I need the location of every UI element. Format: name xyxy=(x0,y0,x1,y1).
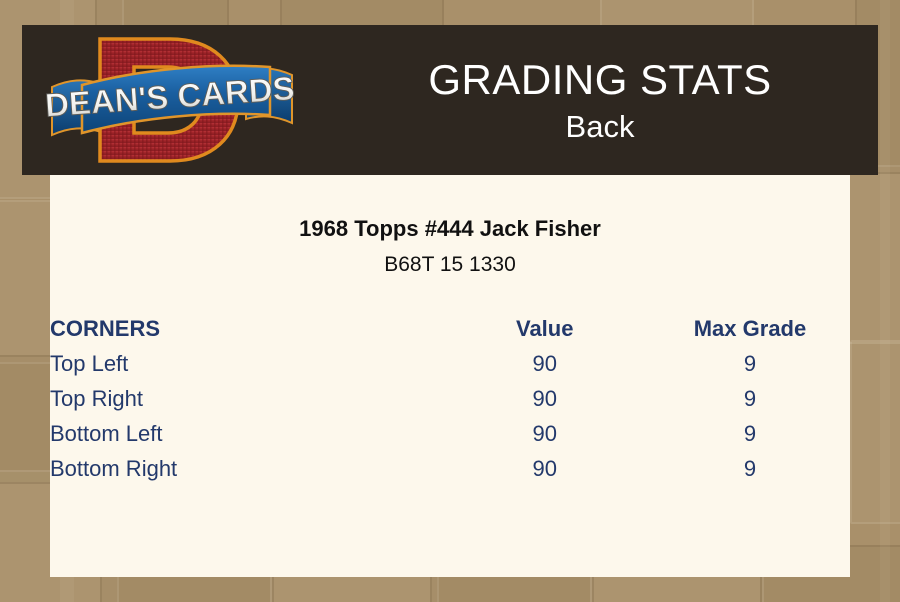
row-max-grade: 9 xyxy=(650,381,850,416)
column-header-value: Value xyxy=(439,311,650,346)
column-header-max-grade: Max Grade xyxy=(650,311,850,346)
deans-cards-logo-icon: DEAN'S CARDS xyxy=(42,27,302,173)
card-subtitle: B68T 15 1330 xyxy=(50,252,850,278)
row-max-grade: 9 xyxy=(650,346,850,381)
deans-cards-logo[interactable]: DEAN'S CARDS xyxy=(42,27,302,173)
column-header-corners: CORNERS xyxy=(50,311,439,346)
row-label: Top Left xyxy=(50,346,439,381)
card-title: 1968 Topps #444 Jack Fisher xyxy=(50,215,850,243)
row-value: 90 xyxy=(439,346,650,381)
page-title: GRADING STATS xyxy=(428,55,771,105)
table-row: Top Left909 xyxy=(50,346,850,381)
row-max-grade: 9 xyxy=(650,416,850,451)
content-panel: 1968 Topps #444 Jack Fisher B68T 15 1330… xyxy=(50,175,850,577)
stats-table-head: CORNERS Value Max Grade xyxy=(50,311,850,346)
row-label: Bottom Left xyxy=(50,416,439,451)
row-value: 90 xyxy=(439,416,650,451)
table-row: Bottom Left909 xyxy=(50,416,850,451)
stats-table-body: Top Left909Top Right909Bottom Left909Bot… xyxy=(50,346,850,486)
row-value: 90 xyxy=(439,451,650,486)
page-subtitle: Back xyxy=(566,108,635,146)
row-max-grade: 9 xyxy=(650,451,850,486)
row-label: Top Right xyxy=(50,381,439,416)
table-row: Top Right909 xyxy=(50,381,850,416)
row-label: Bottom Right xyxy=(50,451,439,486)
row-value: 90 xyxy=(439,381,650,416)
table-row: Bottom Right909 xyxy=(50,451,850,486)
header-title-block: GRADING STATS Back xyxy=(322,25,878,175)
header-bar: DEAN'S CARDS GRADING STATS Back xyxy=(22,25,878,175)
grading-stats-page: DEAN'S CARDS GRADING STATS Back 1968 Top… xyxy=(0,0,900,602)
table-header-row: CORNERS Value Max Grade xyxy=(50,311,850,346)
grading-stats-table: CORNERS Value Max Grade Top Left909Top R… xyxy=(50,311,850,486)
